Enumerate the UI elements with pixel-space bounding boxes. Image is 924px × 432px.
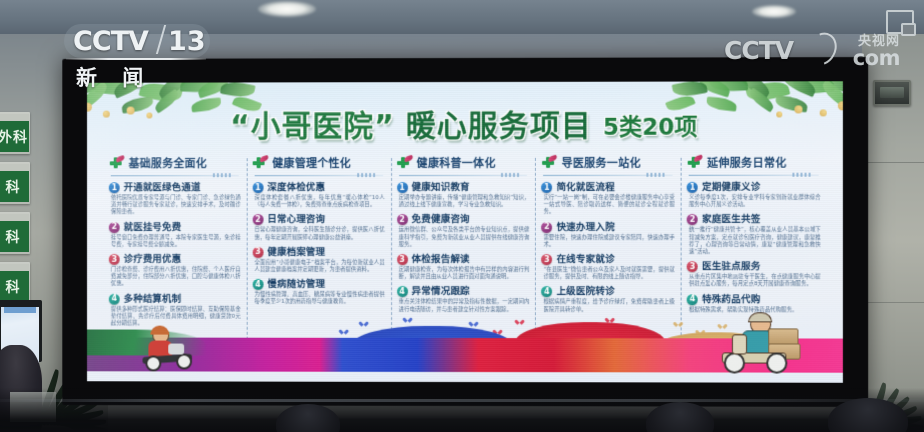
service-item-number: 1	[252, 182, 263, 193]
department-sign: 科	[0, 212, 30, 254]
service-item-number: 4	[397, 286, 408, 297]
illustration-band	[87, 312, 843, 383]
service-item: 3在线专家就诊“在县医生”微信患者公众及家人及时就医需要，提供就诊服务，提供及时…	[541, 254, 674, 282]
logo-underline	[66, 58, 206, 60]
service-item-title-row: 1开通就医绿色通道	[109, 182, 241, 193]
sign-top-strip	[0, 214, 29, 221]
service-item: 3医生驻点服务从重点片区集中地派驻专干医生，在点健康服务中心提供驻点爱心服务，每…	[687, 261, 821, 289]
category-header: 健康管理个性化	[252, 154, 384, 171]
service-item: 2家庭医生共签统一推行“健康共管卡”，核心覆盖从业人员基本公域下辖减免方案，定点…	[687, 214, 821, 256]
heart-icon	[405, 318, 410, 323]
watermark-com-text: com	[853, 46, 900, 70]
service-item: 2快速办理入院需要住院，快速办理住院或建议专家陪同，快速办理手术。	[541, 222, 674, 249]
service-item-number: 2	[541, 222, 552, 233]
service-item: 3体检报告解读定期健康检查，为每次体检报告中有异样的内容进行判断，解读并且由从业…	[397, 254, 530, 281]
heart-icon	[676, 322, 681, 327]
medical-cross-icon	[109, 156, 124, 169]
service-item-number: 1	[397, 182, 408, 193]
watermark-cctv-text: CCTV	[724, 36, 793, 65]
category-header: 延伸服务日常化	[687, 154, 821, 171]
wall-sign-right	[873, 80, 911, 106]
service-item-title: 家庭医生共签	[702, 214, 761, 225]
department-sign: 外科	[0, 112, 30, 154]
category-header: 导医服务一站化	[541, 154, 674, 171]
ceiling-light-icon	[258, 1, 316, 17]
sign-board: 科	[0, 221, 29, 252]
cctv-com-watermark: CCTV 央视网 com	[724, 30, 900, 74]
service-item-number: 2	[109, 222, 120, 233]
service-item-number: 2	[687, 214, 698, 225]
leaf-icon	[839, 81, 842, 100]
channel-logo-text: CCTV	[73, 26, 148, 57]
watermark-arc-icon	[802, 27, 843, 70]
desk-edge	[0, 399, 924, 402]
service-item-title-row: 1健康知识教育	[397, 182, 530, 193]
service-item-number: 4	[541, 286, 552, 297]
service-item-title-row: 1简化就医流程	[541, 182, 674, 193]
medical-cross-icon	[541, 156, 556, 169]
service-item-title: 健康档案管理	[267, 247, 325, 258]
service-item-title: 在线专家就诊	[556, 254, 614, 265]
ceiling-light-icon	[752, 5, 796, 18]
category-header: 基础服务全面化	[109, 154, 241, 171]
service-item-number: 1	[109, 182, 120, 193]
medical-cross-icon	[397, 156, 412, 169]
department-sign: 科	[0, 262, 30, 304]
service-item-body: 从重点片区集中地派驻专干医生，在点健康服务中心提供驻点爱心服务，每月定点8天开展…	[689, 274, 821, 289]
service-item-number: 2	[397, 214, 408, 225]
service-item-number: 1	[541, 182, 552, 193]
leaf-icon	[820, 81, 843, 94]
service-item-title-row: 3体检报告解读	[397, 254, 530, 265]
service-item-title: 特殊药品代购	[702, 294, 761, 305]
service-item-title-row: 2家庭医生共签	[687, 214, 821, 225]
service-item-title-row: 3诊疗费用优惠	[109, 254, 241, 265]
service-item-title: 免费健康咨询	[412, 214, 470, 225]
leaf-icon	[793, 81, 835, 95]
channel-name-cn: 新 闻	[76, 62, 152, 92]
service-item-title: 诊疗费用优惠	[124, 254, 182, 265]
service-item-number: 4	[109, 293, 120, 304]
service-item-body: 实行“一站一岗”制，可在必要会诊楼健康服务中心享受一站式导医、陪诊取药送样、简便…	[543, 195, 674, 217]
department-sign-label: 科	[6, 277, 21, 297]
service-item-title-row: 1定期健康义诊	[687, 182, 821, 193]
category-header-label: 健康科普一体化	[417, 154, 496, 170]
leaf-icon	[747, 88, 777, 113]
service-item: 3健康档案管理全面应用“小哥健康电子”档案平台，为每位新就业人员人员建立健康档案…	[252, 247, 384, 274]
leaf-icon	[191, 97, 222, 112]
medical-cross-icon	[252, 156, 267, 169]
medical-cross-icon	[687, 156, 702, 169]
service-item: 2就医挂号免费挂号窗口免费办理普通号，本院专家医生号源，免诊挂号费，专家挂号费全…	[109, 222, 241, 249]
service-item: 4上级医院转诊根据病情产重程度，给予诊疗绿灯，免费帮助患者上级医院开具转诊单。	[541, 286, 674, 314]
leaf-icon	[706, 96, 737, 111]
service-item-title-row: 4异常情况跟踪	[397, 286, 530, 297]
leaf-icon	[745, 81, 790, 104]
service-item-body: 统一推行“健康共管卡”，核心覆盖从业人员基本公域下辖减免方案，定点就诊包医疗咨询…	[689, 227, 821, 256]
service-item-title-row: 3在线专家就诊	[541, 254, 674, 265]
category-header-label: 基础服务全面化	[129, 155, 207, 171]
service-item-title-row: 4特殊药品代购	[687, 294, 821, 305]
screen-capture-icon	[886, 10, 914, 34]
slide-title: “小哥医院” 暖心服务项目 5类20项	[87, 111, 843, 142]
service-item-number: 4	[252, 279, 263, 290]
delivery-rider-left-icon	[139, 326, 200, 370]
service-item-number: 4	[687, 294, 698, 305]
service-item-body: 运用微信群、公众号及各类平台的专业知识点，提供健康科学指引，免费为新就业从业人员…	[399, 227, 530, 249]
title-count-badge: 5类20项	[603, 117, 697, 140]
sign-top-strip	[0, 264, 29, 271]
service-item-title: 简化就医流程	[556, 182, 614, 193]
heart-icon	[361, 322, 366, 327]
service-item-body: 定期健康检查，为每次体检报告中有异样的内容进行判断，解读并且由从业人员进行面对面…	[399, 267, 530, 281]
department-sign-label: 科	[6, 177, 21, 197]
service-item-body: 需要住院，快速办理住院或建议专家陪同，快速办理手术。	[543, 235, 674, 249]
heart-icon	[341, 330, 346, 335]
service-item-title: 快速办理入院	[556, 222, 614, 233]
leaf-icon	[709, 81, 748, 92]
service-item-body: 日常心理健康咨询，全科医生随诊分诊，提供医八折优惠，每年定期开展医师心理健康公益…	[254, 227, 384, 241]
leaf-icon	[152, 89, 181, 114]
service-item-title-row: 4多种结算机制	[109, 293, 241, 304]
service-item-title: 体检报告解读	[412, 254, 470, 265]
header-divider	[399, 175, 528, 176]
service-item-title: 上级医院转诊	[556, 286, 614, 297]
service-item-body: 全面应用“小哥健康电子”档案平台，为每位新就业人员人员建立健康档案并定期更新，为…	[254, 260, 384, 274]
header-divider	[111, 175, 239, 176]
service-item-title-row: 2就医挂号免费	[109, 222, 241, 233]
service-item: 1定期健康义诊义诊每季度1次，安排专业学科专家到新就业群体综合服务中心开展义诊活…	[687, 182, 821, 210]
category-header-label: 导医服务一站化	[562, 154, 641, 170]
service-item-body: 为慢性病管理、高血压、糖尿病等专业慢性病患者提供每季度至少1次的用药指导与健康教…	[254, 292, 384, 306]
delivery-rider-right-icon	[698, 314, 803, 370]
sign-top-strip	[0, 114, 29, 121]
service-item-body: “在县医生”微信患者公众及家人及时就医需要，提供就诊服务，提供及时、有限的线上随…	[543, 267, 674, 282]
header-divider	[543, 175, 672, 176]
leaf-icon	[672, 81, 708, 98]
service-item: 4慢病随访管理为慢性病管理、高血压、糖尿病等专业慢性病患者提供每季度至少1次的用…	[252, 279, 384, 306]
service-item-title-row: 4上级医院转诊	[541, 286, 674, 297]
service-item-title: 健康知识教育	[412, 182, 470, 193]
service-item: 1开通就医绿色通道依托医院优质专家号源与门诊、专家门诊、急诊绿色通道并畅行就诊服…	[109, 182, 241, 217]
header-divider	[689, 175, 819, 176]
service-item-title-row: 3医生驻点服务	[687, 261, 821, 272]
fruit-icon	[87, 103, 92, 112]
channel-logo: CCTV 13 新 闻	[48, 24, 226, 84]
service-item-body: 依托医院优质专家号源与门诊、专家门诊、急诊绿色通道并畅行就诊服务专家就诊，快速安…	[111, 195, 241, 217]
department-sign-label: 外科	[0, 127, 28, 147]
service-item: 4特殊药品代购根据特殊需求，帮助实现特殊药品代购服务。	[687, 294, 821, 314]
heart-icon	[517, 320, 522, 325]
sign-board: 科	[0, 271, 29, 302]
presentation-slide: “小哥医院” 暖心服务项目 5类20项 基础服务全面化1开通就医绿色通道依托医院…	[87, 81, 843, 383]
service-item-body: 义诊每季度1次，安排专业学科专家到新就业群体综合服务中心开展义诊活动。	[689, 195, 821, 210]
service-item-title-row: 4慢病随访管理	[252, 279, 384, 290]
service-item-title-row: 2快速办理入院	[541, 222, 674, 233]
service-item: 2免费健康咨询运用微信群、公众号及各类平台的专业知识点，提供健康科学指引，免费为…	[397, 214, 530, 249]
header-divider	[254, 175, 382, 176]
channel-number: 13	[168, 26, 206, 57]
department-sign: 科	[0, 162, 30, 204]
service-item-number: 3	[109, 254, 120, 265]
service-item-number: 1	[687, 182, 698, 193]
service-item: 1深度体检优惠深度体检套餐八折优惠，每年优惠“暖心体检”10人（每人免费一体检）…	[252, 182, 384, 209]
sign-board: 科	[0, 171, 29, 202]
service-item-body: 深度体检套餐八折优惠，每年优惠“暖心体检”10人（每人免费一体检），免费筛查重点…	[254, 195, 384, 209]
screen-content-area: “小哥医院” 暖心服务项目 5类20项 基础服务全面化1开通就医绿色通道依托医院…	[87, 81, 843, 383]
service-item-number: 3	[687, 261, 698, 272]
service-item-body: 定期举办专题讲座，传播“健康管理和急救知识”知识，通过线上线下健康宣教，学习专业…	[399, 195, 530, 209]
leaf-icon	[121, 96, 154, 113]
title-quoted-name: “小哥医院”	[230, 112, 395, 142]
leaf-icon	[697, 81, 732, 97]
leaf-icon	[819, 81, 843, 107]
service-item-number: 2	[252, 214, 263, 225]
tv-news-screenshot: 外科 科 科 科	[0, 0, 924, 432]
service-item-title: 多种结算机制	[124, 293, 182, 304]
sign-top-strip	[0, 164, 29, 171]
service-item-number: 3	[397, 254, 408, 265]
leaf-icon	[775, 95, 809, 112]
sign-board: 外科	[0, 121, 29, 152]
service-item-body: 门诊检查费、诊疗费用八折优惠，住院费、个人医疗自费减免部分，住院部分八折优惠，口…	[111, 267, 241, 289]
service-item-title: 医生驻点服务	[702, 261, 761, 272]
display-screen: “小哥医院” 暖心服务项目 5类20项 基础服务全面化1开通就医绿色通道依托医院…	[62, 57, 868, 407]
heart-icon	[471, 322, 476, 327]
service-item-title-row: 3健康档案管理	[252, 247, 384, 258]
service-item-body: 挂号窗口免费办理普通号，本院专家医生号源，免诊挂号费，专家挂号费全额减免。	[111, 235, 241, 249]
service-item-title-row: 1深度体检优惠	[252, 182, 384, 193]
service-item-title-row: 2日常心理咨询	[252, 214, 384, 225]
leaf-icon	[779, 81, 818, 97]
service-item: 4异常情况跟踪重点关注体检结果中的异常及指标性数据，一定期间内进行电话随访，并与…	[397, 286, 530, 314]
service-item-number: 3	[252, 247, 263, 258]
service-item-title: 就医挂号免费	[124, 222, 182, 233]
leaf-icon	[737, 81, 773, 98]
service-item: 1健康知识教育定期举办专题讲座，传播“健康管理和急救知识”知识，通过线上线下健康…	[397, 182, 530, 209]
category-header-label: 健康管理个性化	[272, 155, 351, 171]
service-item: 2日常心理咨询日常心理健康咨询，全科医生随诊分诊，提供医八折优惠，每年定期开展医…	[252, 214, 384, 241]
service-item: 3诊疗费用优惠门诊检查费、诊疗费用八折优惠，住院费、个人医疗自费减免部分，住院部…	[109, 254, 241, 289]
category-header: 健康科普一体化	[397, 154, 530, 171]
title-main-text: 暖心服务项目	[406, 112, 592, 142]
foreground-shadow	[0, 388, 924, 432]
service-item-title-row: 2免费健康咨询	[397, 214, 530, 225]
service-item-title: 定期健康义诊	[702, 182, 761, 193]
service-item-title: 开通就医绿色通道	[124, 182, 201, 193]
service-item-title: 日常心理咨询	[267, 214, 325, 225]
service-item-number: 3	[541, 254, 552, 265]
category-header-label: 延伸服务日常化	[707, 154, 787, 170]
fruit-icon	[838, 101, 843, 110]
service-item-title: 慢病随访管理	[267, 279, 325, 290]
department-sign-list: 外科 科 科 科	[0, 112, 32, 312]
service-item-title: 异常情况跟踪	[412, 286, 470, 297]
department-sign-label: 科	[6, 227, 21, 247]
service-item: 1简化就医流程实行“一站一岗”制，可在必要会诊楼健康服务中心享受一站式导医、陪诊…	[541, 182, 674, 217]
service-item-title: 深度体检优惠	[267, 182, 325, 193]
